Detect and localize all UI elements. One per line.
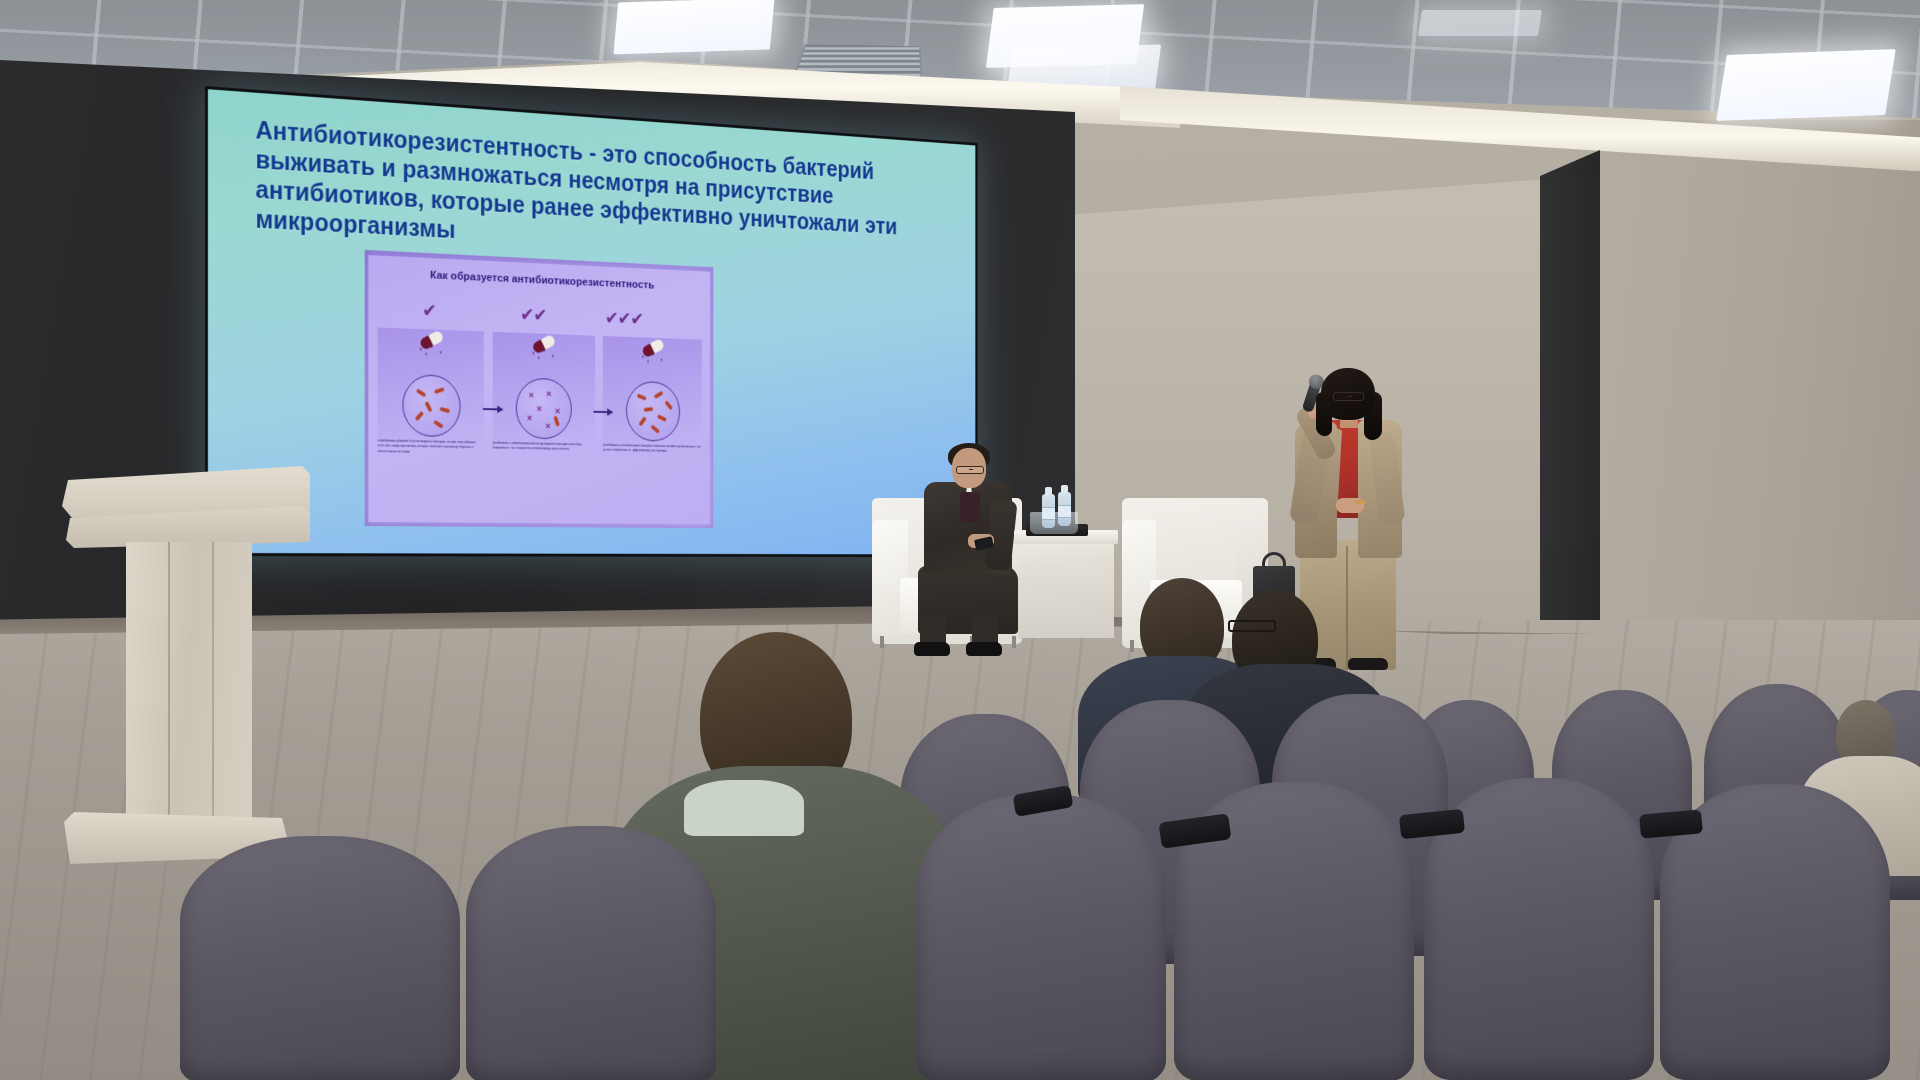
projection-screen[interactable]: Антибиотикорезистентность - это способно… — [205, 86, 978, 557]
diagram-caption-1: антибиотики убивают болезнетворные бакте… — [378, 438, 484, 519]
audience-collar — [684, 780, 804, 836]
checkmark-icon-group-1: ✔ — [422, 300, 436, 322]
ceiling-light-panel — [1716, 49, 1896, 121]
auditorium-seat[interactable] — [466, 826, 716, 1080]
auditorium-seat[interactable] — [916, 794, 1166, 1080]
water-bottle-icon — [1058, 492, 1071, 526]
particles — [527, 348, 562, 362]
petri-dish-icon — [626, 381, 680, 442]
diagram-stage-3 — [603, 336, 702, 449]
checkmark-icon-group-3: ✔✔✔ — [605, 308, 643, 330]
petri-dish-icon — [402, 374, 460, 437]
particles — [413, 344, 449, 359]
water-bottle-icon — [1042, 494, 1055, 528]
diagram-caption-3: устойчивые к антибиотикам бактерии начин… — [603, 443, 702, 521]
checkmark-icon-group-2: ✔✔ — [520, 304, 546, 326]
diagram-stage-1 — [378, 328, 484, 445]
speaker-shoe-right — [1348, 658, 1388, 670]
petri-dish-icon: ✕ ✕ ✕ ✕ ✕ ✕ — [516, 377, 572, 439]
conference-hall-scene: Антибиотикорезистентность - это способно… — [0, 0, 1920, 1080]
ceiling-light-panel — [613, 0, 774, 54]
glasses-icon — [1333, 392, 1364, 401]
lectern-column — [126, 542, 252, 842]
particles — [636, 352, 670, 366]
diagram-stage-panels: ✕ ✕ ✕ ✕ ✕ ✕ — [378, 328, 702, 449]
slide-surface: Антибиотикорезистентность - это способно… — [208, 89, 975, 554]
bracelet — [1354, 500, 1366, 504]
panelist-inner-top — [960, 492, 980, 522]
diagram-stage-2: ✕ ✕ ✕ ✕ ✕ ✕ — [492, 332, 595, 447]
panelist-shoe-right — [966, 642, 1002, 656]
slide-title-text: Антибиотикорезистентность - это способно… — [255, 116, 931, 270]
panelist-shoe-left — [914, 642, 950, 656]
slide-diagram: Как образуется антибиотикорезистентность… — [365, 250, 713, 528]
glasses-icon — [1228, 620, 1276, 632]
glasses-icon — [956, 466, 984, 474]
side-table — [1018, 534, 1114, 638]
ceiling-light-panel — [1418, 10, 1542, 36]
diagram-caption-2: устойчивые к антибактериальным препарата… — [492, 441, 595, 520]
diagram-title: Как образуется антибиотикорезистентность — [369, 267, 710, 294]
diagram-captions: антибиотики убивают болезнетворные бакте… — [378, 438, 702, 520]
slide-diagram-inner: Как образуется антибиотикорезистентность… — [369, 255, 710, 524]
auditorium-seat[interactable] — [180, 836, 460, 1080]
acoustic-panel-wall-right — [1540, 150, 1600, 670]
